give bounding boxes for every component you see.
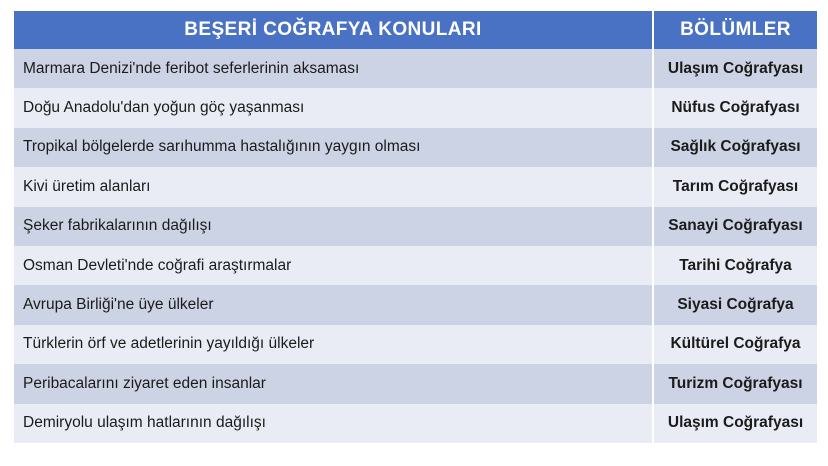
table-row: Kivi üretim alanlarıTarım Coğrafyası (14, 167, 817, 206)
cell-topic: Kivi üretim alanları (14, 167, 653, 206)
table-row: Doğu Anadolu'dan yoğun göç yaşanmasıNüfu… (14, 88, 817, 127)
cell-topic: Demiryolu ulaşım hatlarının dağılışı (14, 404, 653, 443)
cell-topic: Osman Devleti'nde coğrafi araştırmalar (14, 246, 653, 285)
cell-branch: Turizm Coğrafyası (653, 364, 817, 403)
table-row: Türklerin örf ve adetlerinin yayıldığı ü… (14, 325, 817, 364)
cell-branch: Sağlık Coğrafyası (653, 128, 817, 167)
cell-topic: Marmara Denizi'nde feribot seferlerinin … (14, 49, 653, 88)
table-body: Marmara Denizi'nde feribot seferlerinin … (14, 49, 817, 443)
column-header-topics: BEŞERİ COĞRAFYA KONULARI (14, 11, 653, 49)
cell-branch: Ulaşım Coğrafyası (653, 404, 817, 443)
cell-topic: Türklerin örf ve adetlerinin yayıldığı ü… (14, 325, 653, 364)
cell-branch: Sanayi Coğrafyası (653, 207, 817, 246)
subject-table-container: BEŞERİ COĞRAFYA KONULARI BÖLÜMLER Marmar… (14, 11, 817, 443)
cell-topic: Tropikal bölgelerde sarıhumma hastalığın… (14, 128, 653, 167)
cell-branch: Siyasi Coğrafya (653, 285, 817, 324)
cell-topic: Doğu Anadolu'dan yoğun göç yaşanması (14, 88, 653, 127)
table-row: Tropikal bölgelerde sarıhumma hastalığın… (14, 128, 817, 167)
cell-topic: Peribacalarını ziyaret eden insanlar (14, 364, 653, 403)
geography-subjects-table: BEŞERİ COĞRAFYA KONULARI BÖLÜMLER Marmar… (14, 11, 817, 443)
table-row: Peribacalarını ziyaret eden insanlarTuri… (14, 364, 817, 403)
table-row: Demiryolu ulaşım hatlarının dağılışıUlaş… (14, 404, 817, 443)
column-header-branches: BÖLÜMLER (653, 11, 817, 49)
cell-topic: Avrupa Birliği'ne üye ülkeler (14, 285, 653, 324)
cell-branch: Tarım Coğrafyası (653, 167, 817, 206)
table-row: Şeker fabrikalarının dağılışıSanayi Coğr… (14, 207, 817, 246)
cell-branch: Nüfus Coğrafyası (653, 88, 817, 127)
table-row: Avrupa Birliği'ne üye ülkelerSiyasi Coğr… (14, 285, 817, 324)
cell-branch: Ulaşım Coğrafyası (653, 49, 817, 88)
header-row: BEŞERİ COĞRAFYA KONULARI BÖLÜMLER (14, 11, 817, 49)
page-root: BEŞERİ COĞRAFYA KONULARI BÖLÜMLER Marmar… (0, 0, 828, 466)
table-header: BEŞERİ COĞRAFYA KONULARI BÖLÜMLER (14, 11, 817, 49)
table-row: Marmara Denizi'nde feribot seferlerinin … (14, 49, 817, 88)
cell-topic: Şeker fabrikalarının dağılışı (14, 207, 653, 246)
cell-branch: Kültürel Coğrafya (653, 325, 817, 364)
cell-branch: Tarihi Coğrafya (653, 246, 817, 285)
table-row: Osman Devleti'nde coğrafi araştırmalarTa… (14, 246, 817, 285)
